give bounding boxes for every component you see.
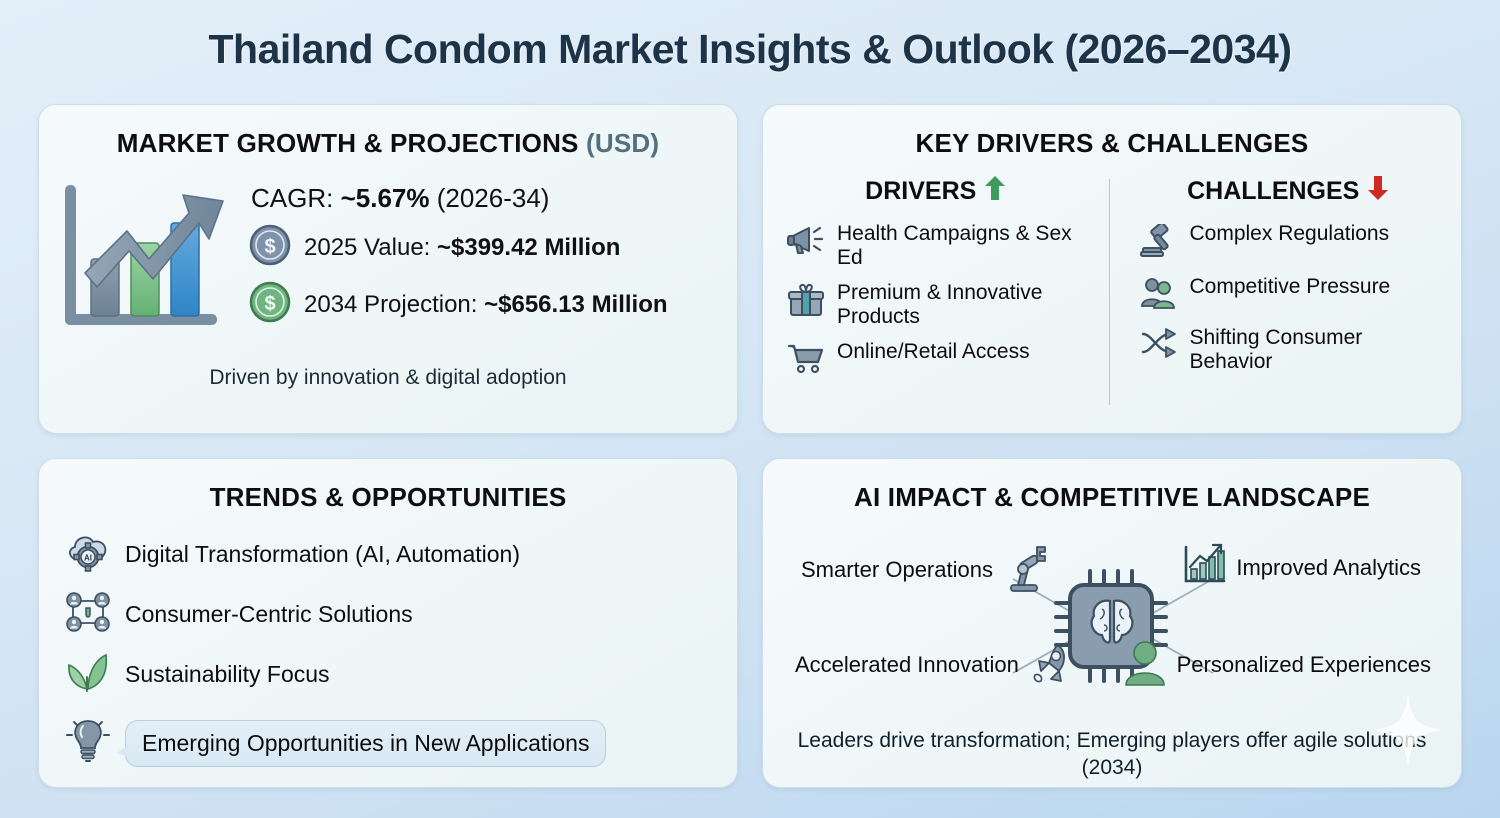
driver-item-label: Health Campaigns & Sex Ed xyxy=(837,222,1085,269)
dollar-coin-green-icon: $ xyxy=(249,281,291,328)
analytics-chart-icon xyxy=(1180,543,1228,594)
drivers-column: DRIVERS xyxy=(781,175,1109,423)
leaf-icon xyxy=(65,651,111,698)
down-arrow-icon xyxy=(1367,175,1389,208)
ai-node-accelerated-innovation: Accelerated Innovation xyxy=(795,639,1075,692)
cagr-period: (2026-34) xyxy=(437,183,550,213)
challenge-item-label: Competitive Pressure xyxy=(1190,275,1391,299)
challenge-item: Complex Regulations xyxy=(1140,222,1438,263)
stat-2025-value: ~$399.42 Million xyxy=(437,234,620,261)
ai-impact-footnote: Leaders drive transformation; Emerging p… xyxy=(781,727,1443,782)
cagr-label: CAGR: xyxy=(251,183,333,213)
challenge-item-label: Shifting Consumer Behavior xyxy=(1190,326,1438,373)
trend-callout: Emerging Opportunities in New Applicatio… xyxy=(57,716,719,771)
card-title-text: MARKET GROWTH & PROJECTIONS xyxy=(117,128,579,158)
card-title-market-growth: MARKET GROWTH & PROJECTIONS (USD) xyxy=(57,128,719,159)
shopping-cart-icon xyxy=(787,340,825,379)
card-title-trends: TRENDS & OPPORTUNITIES xyxy=(57,482,719,513)
trend-item-label: Digital Transformation (AI, Automation) xyxy=(125,541,520,568)
stat-row-2034: $ 2034 Projection: ~$656.13 Million xyxy=(249,281,719,328)
cagr-line: CAGR: ~5.67% (2026-34) xyxy=(251,183,719,214)
stat-row-2025: $ 2025 Value: ~$399.42 Million xyxy=(249,224,719,271)
stat-2025-text: 2025 Value: ~$399.42 Million xyxy=(304,234,620,262)
cagr-value: ~5.67% xyxy=(341,183,430,213)
challenges-column: CHALLENGES xyxy=(1110,175,1444,423)
stat-2034-text: 2034 Projection: ~$656.13 Million xyxy=(304,291,668,319)
trend-item-label: Consumer-Centric Solutions xyxy=(125,601,413,628)
trends-list: AI Digital Transformation (AI, Automatio… xyxy=(57,531,719,771)
ai-impact-diagram: Smarter Operations Accelerated Innovatio… xyxy=(781,521,1443,721)
ai-node-label: Accelerated Innovation xyxy=(795,653,1019,677)
trend-item-label: Sustainability Focus xyxy=(125,661,330,688)
ai-node-improved-analytics: Improved Analytics xyxy=(1180,543,1421,594)
stat-2034-label: 2034 Projection: xyxy=(304,291,477,318)
svg-text:$: $ xyxy=(264,236,275,258)
drivers-heading: DRIVERS xyxy=(787,175,1085,208)
driver-item: Online/Retail Access xyxy=(787,340,1085,379)
trend-item: Consumer-Centric Solutions xyxy=(57,591,719,638)
megaphone-icon xyxy=(787,222,825,261)
growth-stats: CAGR: ~5.67% (2026-34) $ 2025 Value: xyxy=(249,181,719,338)
lightbulb-icon xyxy=(65,716,111,771)
sparkle-decoration-icon xyxy=(1373,692,1443,773)
ai-node-personalized-experiences: Personalized Experiences xyxy=(1121,639,1431,692)
driver-item-label: Premium & Innovative Products xyxy=(837,281,1085,328)
trend-item: AI Digital Transformation (AI, Automatio… xyxy=(57,531,719,578)
card-title-drivers-challenges: KEY DRIVERS & CHALLENGES xyxy=(781,128,1443,159)
svg-text:$: $ xyxy=(264,293,275,315)
growth-body: CAGR: ~5.67% (2026-34) $ 2025 Value: xyxy=(57,173,719,346)
card-title-ai-impact: AI IMPACT & COMPETITIVE LANDSCAPE xyxy=(781,482,1443,513)
robot-arm-icon xyxy=(1001,543,1049,598)
challenge-item-label: Complex Regulations xyxy=(1190,222,1390,246)
drivers-challenges-body: DRIVERS xyxy=(781,175,1443,423)
shuffle-arrows-icon xyxy=(1140,326,1178,363)
user-person-icon xyxy=(1121,639,1169,692)
ai-node-smarter-operations: Smarter Operations xyxy=(801,543,1049,598)
ai-node-label: Personalized Experiences xyxy=(1177,653,1431,677)
stat-2025-label: 2025 Value: xyxy=(304,234,430,261)
challenge-item: Competitive Pressure xyxy=(1140,275,1438,314)
page-title: Thailand Condom Market Insights & Outloo… xyxy=(0,0,1500,73)
gift-box-icon xyxy=(787,281,825,322)
up-arrow-icon xyxy=(984,175,1006,208)
trend-item: Sustainability Focus xyxy=(57,651,719,698)
card-ai-impact: AI IMPACT & COMPETITIVE LANDSCAPE Smarte… xyxy=(762,458,1462,788)
driver-item: Health Campaigns & Sex Ed xyxy=(787,222,1085,269)
gavel-icon xyxy=(1140,222,1178,263)
bar-chart-growth-arrow-icon xyxy=(57,173,239,346)
card-title-usd: (USD) xyxy=(586,128,659,158)
two-people-icon xyxy=(1140,275,1178,314)
challenges-heading: CHALLENGES xyxy=(1140,175,1438,208)
card-trends-opportunities: TRENDS & OPPORTUNITIES AI xyxy=(38,458,738,788)
cards-grid: MARKET GROWTH & PROJECTIONS (USD) xyxy=(38,104,1462,796)
card-market-growth: MARKET GROWTH & PROJECTIONS (USD) xyxy=(38,104,738,434)
card-drivers-challenges: KEY DRIVERS & CHALLENGES DRIVERS xyxy=(762,104,1462,434)
people-network-icon xyxy=(65,591,111,638)
ai-node-label: Smarter Operations xyxy=(801,558,993,582)
driver-item-label: Online/Retail Access xyxy=(837,340,1030,364)
challenge-item: Shifting Consumer Behavior xyxy=(1140,326,1438,373)
dollar-coin-blue-icon: $ xyxy=(249,224,291,271)
driver-item: Premium & Innovative Products xyxy=(787,281,1085,328)
drivers-heading-label: DRIVERS xyxy=(865,177,976,206)
cloud-ai-gear-icon: AI xyxy=(65,531,111,578)
svg-text:AI: AI xyxy=(84,554,92,563)
emerging-opportunities-callout: Emerging Opportunities in New Applicatio… xyxy=(125,720,606,767)
stat-2034-value: ~$656.13 Million xyxy=(484,291,667,318)
challenges-heading-label: CHALLENGES xyxy=(1187,177,1359,206)
ai-node-label: Improved Analytics xyxy=(1236,556,1421,580)
growth-footnote: Driven by innovation & digital adoption xyxy=(57,366,719,390)
